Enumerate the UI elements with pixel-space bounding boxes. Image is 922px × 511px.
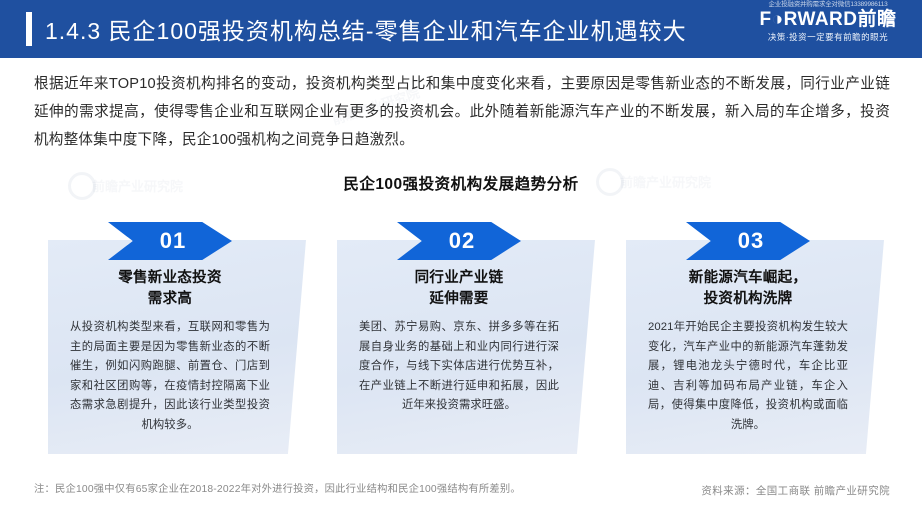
- card-body-text: 美团、苏宁易购、京东、拼多多等在拓展自身业务的基础上和业内同行进行深度合作，与线…: [359, 318, 559, 416]
- card-heading-line-2: 投资机构洗牌: [626, 289, 870, 310]
- intro-paragraph: 根据近年来TOP10投资机构排名的变动，投资机构类型占比和集中度变化来看，主要原…: [34, 70, 890, 154]
- source-credit: 资料来源：全国工商联 前瞻产业研究院: [701, 483, 890, 498]
- card-heading-line-2: 需求高: [48, 289, 292, 310]
- card-heading-line-1: 零售新业态投资: [48, 268, 292, 289]
- forward-logo: F◑RWARD前瞻: [740, 9, 916, 31]
- brand-tagline: 决策·投资一定要有前瞻的眼光: [740, 31, 916, 43]
- footnote: 注：民企100强中仅有65家企业在2018-2022年对外进行投资，因此行业结构…: [34, 481, 554, 498]
- card-body-text: 从投资机构类型来看，互联网和零售为主的局面主要是因为零售新业态的不断催生，例如闪…: [70, 318, 270, 435]
- card-body-text: 2021年开始民企主要投资机构发生较大变化，汽车产业中的新能源汽车蓬勃发展，锂电…: [648, 318, 848, 435]
- card-heading: 零售新业态投资 需求高: [48, 268, 292, 310]
- trend-card: 02 同行业产业链 延伸需要 美团、苏宁易购、京东、拼多多等在拓展自身业务的基础…: [337, 222, 595, 454]
- trend-card: 01 零售新业态投资 需求高 从投资机构类型来看，互联网和零售为主的局面主要是因…: [48, 222, 306, 454]
- trend-card: 03 新能源汽车崛起， 投资机构洗牌 2021年开始民企主要投资机构发生较大变化…: [626, 222, 884, 454]
- trend-cards-row: 01 零售新业态投资 需求高 从投资机构类型来看，互联网和零售为主的局面主要是因…: [48, 222, 884, 454]
- card-heading-line-2: 延伸需要: [337, 289, 581, 310]
- card-heading: 同行业产业链 延伸需要: [337, 268, 581, 310]
- section-title: 民企100强投资机构发展趋势分析: [0, 172, 922, 194]
- card-heading: 新能源汽车崛起， 投资机构洗牌: [626, 268, 870, 310]
- brand-contact-note: 企业投融资并购需求全对微信13389986113: [740, 0, 916, 9]
- page-title: 1.4.3 民企100强投资机构总结-零售企业和汽车企业机遇较大: [45, 12, 687, 46]
- card-heading-line-1: 新能源汽车崛起，: [626, 268, 870, 289]
- card-heading-line-1: 同行业产业链: [337, 268, 581, 289]
- header-accent-bar: [26, 12, 32, 46]
- brand-block: 企业投融资并购需求全对微信13389986113 F◑RWARD前瞻 决策·投资…: [740, 0, 916, 43]
